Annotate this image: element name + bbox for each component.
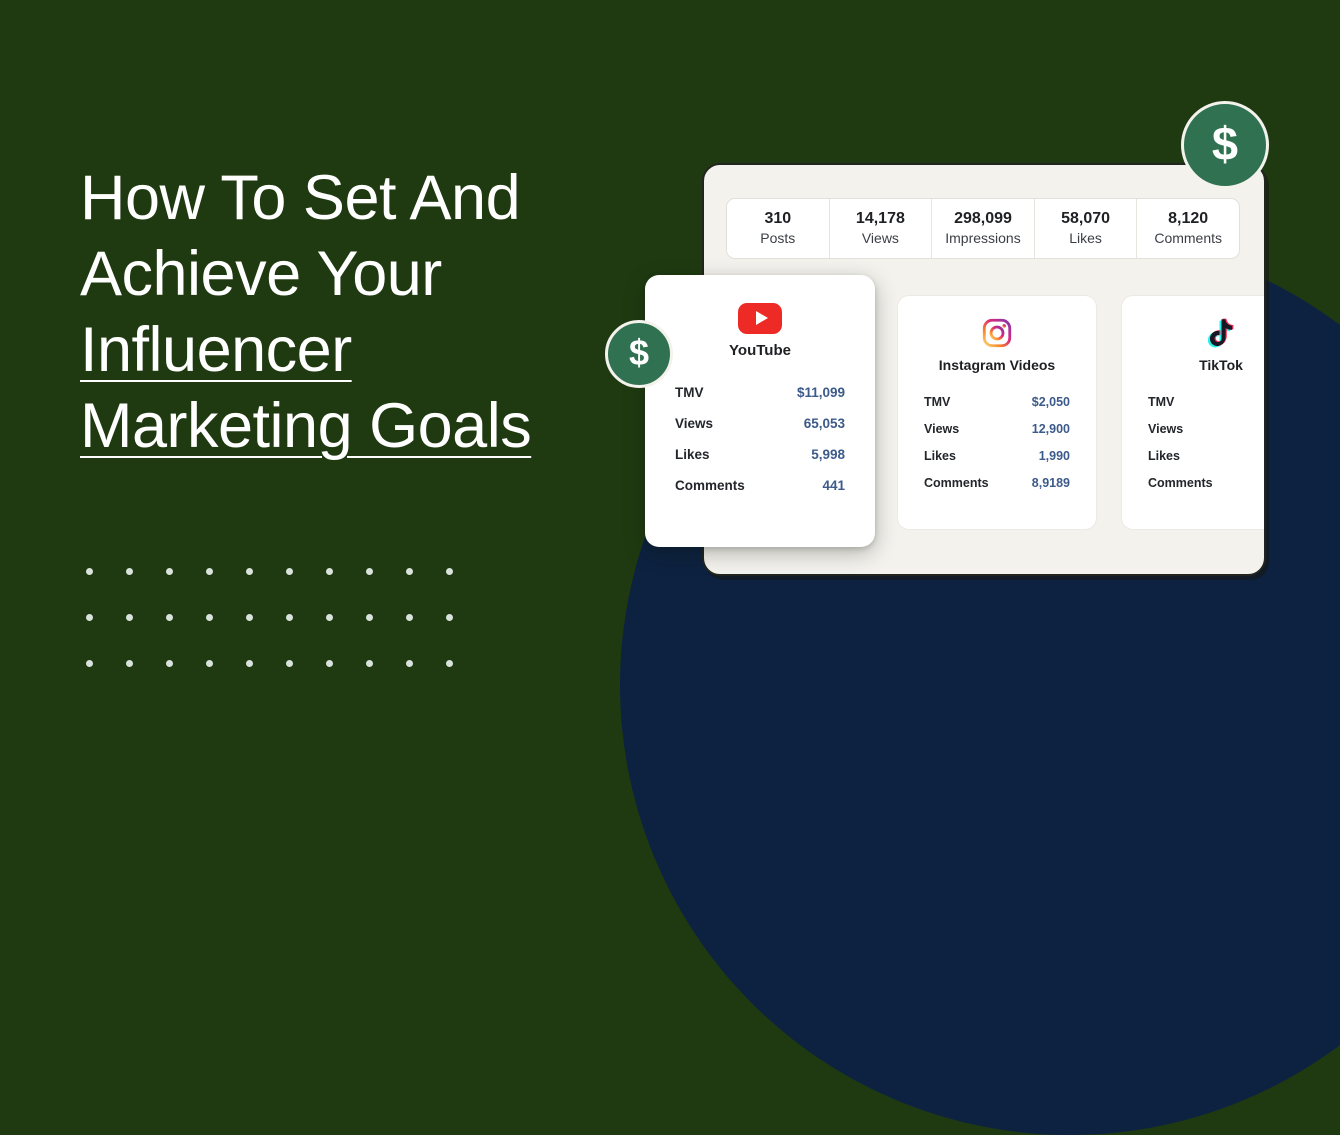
platform-card-youtube[interactable]: YouTube TMV $11,099 Views 65,053 Likes 5…	[645, 275, 875, 547]
metric-label: Views	[1148, 422, 1183, 436]
metric-label: TMV	[1148, 395, 1174, 409]
metric-row: Likes 5,998	[675, 447, 845, 462]
metric-label: Comments	[924, 476, 989, 490]
grid-dot	[246, 660, 253, 667]
metric-label: Views	[924, 422, 959, 436]
grid-dot	[126, 614, 133, 621]
grid-dot	[286, 614, 293, 621]
stat-cell-comments: 8,120 Comments	[1137, 199, 1239, 258]
stat-cell-likes: 58,070 Likes	[1035, 199, 1138, 258]
grid-dot	[86, 568, 93, 575]
metric-list: TMV $11,099 Views 65,053 Likes 5,998 Com…	[675, 385, 845, 493]
headline-line-3: Influencer	[80, 312, 640, 388]
grid-dot	[206, 568, 213, 575]
grid-dot	[246, 568, 253, 575]
grid-dot	[286, 660, 293, 667]
metric-label: Views	[675, 416, 713, 431]
platform-card-tiktok[interactable]: TikTok TMV Views Likes Comments	[1121, 295, 1266, 530]
stat-label: Posts	[760, 229, 795, 248]
grid-dot	[446, 568, 453, 575]
metric-label: TMV	[675, 385, 704, 400]
metric-row: Comments 8,9189	[924, 476, 1070, 490]
metric-value: $2,050	[1032, 395, 1070, 409]
stat-value: 14,178	[856, 209, 905, 228]
metric-row: TMV $11,099	[675, 385, 845, 400]
metric-value: 1,990	[1039, 449, 1070, 463]
stat-label: Likes	[1069, 229, 1102, 248]
stat-value: 58,070	[1061, 209, 1110, 228]
stat-label: Views	[862, 229, 899, 248]
metric-label: TMV	[924, 395, 950, 409]
stat-cell-views: 14,178 Views	[830, 199, 933, 258]
grid-dot	[246, 614, 253, 621]
dollar-sign-icon: $	[1212, 120, 1238, 167]
headline-line-4: Marketing Goals	[80, 388, 640, 464]
grid-dot	[326, 568, 333, 575]
grid-dot	[366, 568, 373, 575]
metric-row: TMV $2,050	[924, 395, 1070, 409]
grid-dot	[166, 660, 173, 667]
metric-row: Comments 441	[675, 478, 845, 493]
card-title: YouTube	[729, 342, 791, 359]
grid-dot	[326, 614, 333, 621]
card-header: TikTok	[1148, 316, 1266, 373]
card-header: Instagram Videos	[924, 316, 1070, 373]
dot-grid-decoration	[86, 568, 486, 706]
metric-value: 441	[822, 478, 845, 493]
grid-dot	[366, 614, 373, 621]
grid-dot	[126, 568, 133, 575]
grid-dot	[166, 568, 173, 575]
grid-dot	[326, 660, 333, 667]
metric-label: Likes	[675, 447, 710, 462]
metric-label: Comments	[1148, 476, 1213, 490]
youtube-logo-icon	[738, 301, 782, 335]
metric-row: Likes	[1148, 449, 1266, 463]
metric-row: Views	[1148, 422, 1266, 436]
grid-dot	[166, 614, 173, 621]
grid-dot	[126, 660, 133, 667]
card-title: Instagram Videos	[939, 357, 1055, 373]
grid-dot	[446, 614, 453, 621]
dollar-badge-large: $	[1181, 101, 1269, 189]
metric-value: 65,053	[804, 416, 845, 431]
metric-row: Comments	[1148, 476, 1266, 490]
grid-dot	[406, 614, 413, 621]
stat-value: 310	[764, 209, 791, 228]
platform-card-instagram[interactable]: Instagram Videos TMV $2,050 Views 12,900…	[897, 295, 1097, 530]
metric-list: TMV $2,050 Views 12,900 Likes 1,990 Comm…	[924, 395, 1070, 490]
grid-dot	[406, 568, 413, 575]
metric-row: Views 12,900	[924, 422, 1070, 436]
headline-line-1: How To Set And	[80, 160, 640, 236]
metric-row: Views 65,053	[675, 416, 845, 431]
metric-label: Likes	[924, 449, 956, 463]
grid-dot	[86, 614, 93, 621]
metric-label: Likes	[1148, 449, 1180, 463]
metric-value: 5,998	[811, 447, 845, 462]
stat-value: 298,099	[954, 209, 1012, 228]
metric-value: 12,900	[1032, 422, 1070, 436]
metric-value: $11,099	[797, 385, 845, 400]
summary-stats-bar: 310 Posts 14,178 Views 298,099 Impressio…	[726, 198, 1240, 259]
metric-list: TMV Views Likes Comments	[1148, 395, 1266, 490]
instagram-logo-icon	[982, 316, 1012, 350]
stat-label: Comments	[1154, 229, 1222, 248]
headline-line-2: Achieve Your	[80, 236, 640, 312]
grid-dot	[206, 660, 213, 667]
card-title: TikTok	[1199, 357, 1243, 373]
metric-value: 8,9189	[1032, 476, 1070, 490]
tiktok-logo-icon	[1207, 316, 1235, 350]
card-header: YouTube	[675, 301, 845, 359]
stat-value: 8,120	[1168, 209, 1208, 228]
metric-label: Comments	[675, 478, 745, 493]
grid-dot	[86, 660, 93, 667]
grid-dot	[366, 660, 373, 667]
grid-dot	[206, 614, 213, 621]
metric-row: Likes 1,990	[924, 449, 1070, 463]
stat-label: Impressions	[945, 229, 1020, 248]
stat-cell-posts: 310 Posts	[727, 199, 830, 258]
metric-row: TMV	[1148, 395, 1266, 409]
stat-cell-impressions: 298,099 Impressions	[932, 199, 1035, 258]
page-title: How To Set And Achieve Your Influencer M…	[80, 160, 640, 464]
dollar-badge-small: $	[605, 320, 673, 388]
dollar-sign-icon: $	[629, 335, 649, 371]
grid-dot	[446, 660, 453, 667]
grid-dot	[286, 568, 293, 575]
grid-dot	[406, 660, 413, 667]
